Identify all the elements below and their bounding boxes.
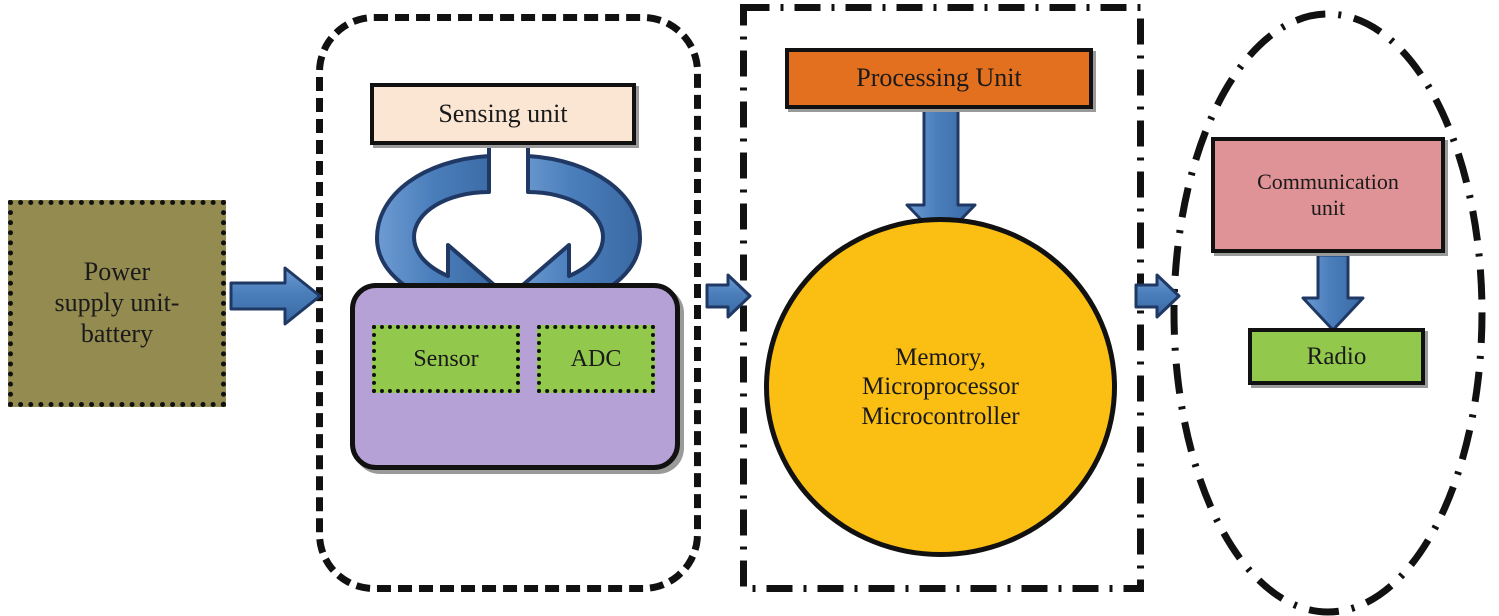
memory-microprocessor-microcontroller-block: Memory, Microprocessor Microcontroller xyxy=(764,217,1117,557)
communication-unit-block: Communication unit xyxy=(1211,137,1445,253)
memory-line-3: Microcontroller xyxy=(861,402,1019,432)
diagram-canvas: Power supply unit- battery Sensing unit … xyxy=(0,0,1499,616)
power-supply-to-sensing-arrow xyxy=(231,268,320,324)
memory-line-1: Memory, xyxy=(895,343,986,373)
sensing-unit-block: Sensing unit xyxy=(370,83,636,145)
processing-unit-block: Processing Unit xyxy=(785,48,1093,109)
adc-block: ADC xyxy=(537,325,655,393)
sensor-block: Sensor xyxy=(372,325,520,393)
communication-subsystem-group xyxy=(1168,10,1488,616)
power-supply-unit-block: Power supply unit- battery xyxy=(8,200,226,407)
radio-block: Radio xyxy=(1248,328,1425,385)
memory-line-2: Microprocessor xyxy=(862,372,1019,402)
